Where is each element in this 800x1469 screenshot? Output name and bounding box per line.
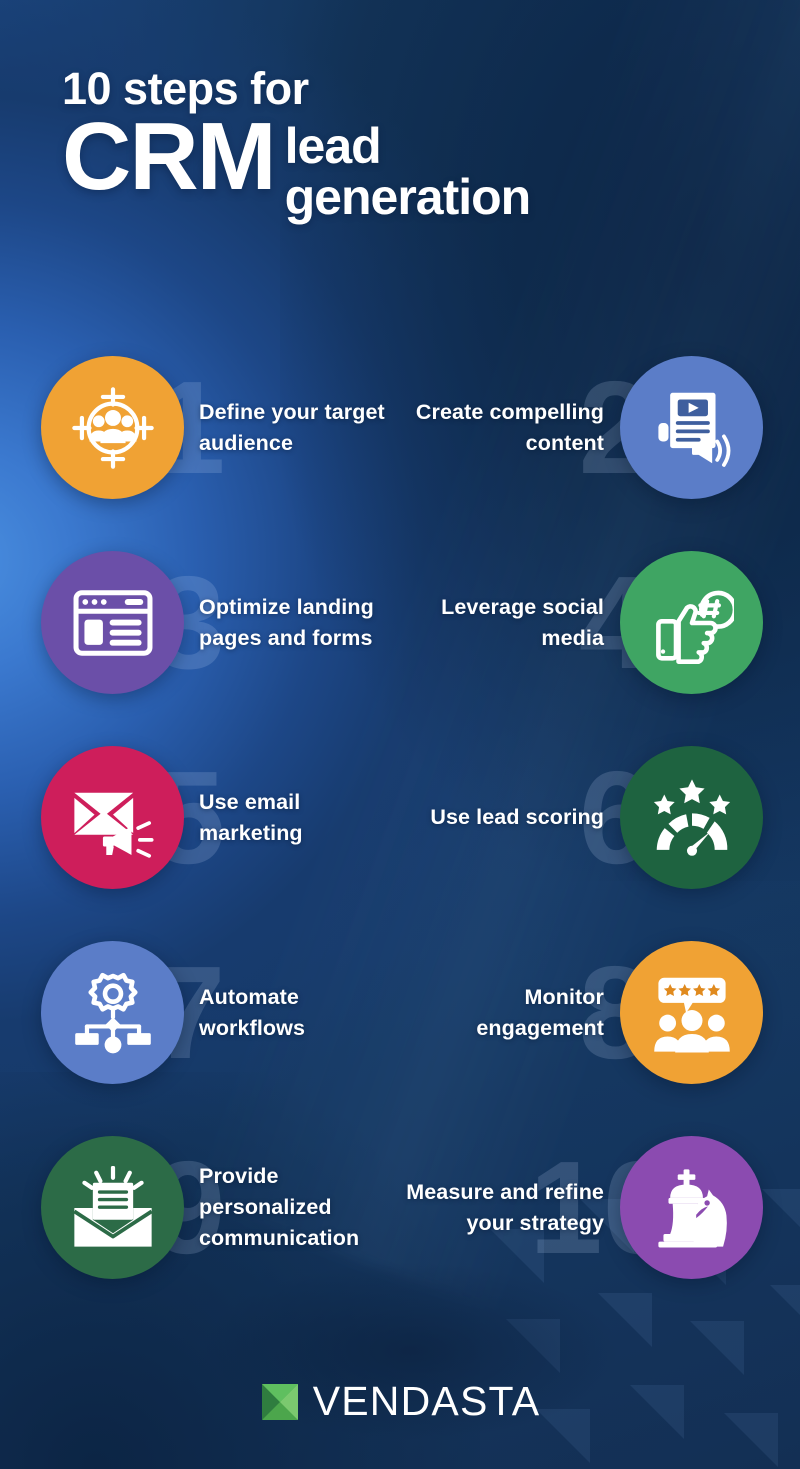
gauge-stars-icon <box>650 776 734 860</box>
step-icon-bubble-8[interactable] <box>620 941 763 1084</box>
step-icon-bubble-6[interactable] <box>620 746 763 889</box>
title-line-2: CRM lead generation <box>62 113 738 223</box>
step-icon-bubble-5[interactable] <box>41 746 184 889</box>
content-document-icon <box>650 386 734 470</box>
gear-workflow-icon <box>71 971 155 1055</box>
step-label-6: Use lead scoring <box>430 802 604 833</box>
landing-page-icon <box>71 581 155 665</box>
steps-row: Define your target audience1Create compe… <box>0 330 800 525</box>
title-subwords: lead generation <box>285 113 531 223</box>
title-acronym: CRM <box>62 113 275 201</box>
vendasta-logo-icon <box>260 1382 300 1422</box>
steps-row: Provide personalized communication9Measu… <box>0 1110 800 1305</box>
step-label-9: Provide personalized communication <box>199 1161 400 1253</box>
step-item-10[interactable]: Measure and refine your strategy 10 <box>400 1110 800 1305</box>
thumbs-up-hashtag-icon <box>650 581 734 665</box>
chess-strategy-icon <box>650 1166 734 1250</box>
step-icon-bubble-9[interactable] <box>41 1136 184 1279</box>
steps-row: Optimize landing pages and forms3Leverag… <box>0 525 800 720</box>
email-megaphone-icon <box>71 776 155 860</box>
title-word-lead: lead <box>285 121 531 172</box>
step-icon-bubble-10[interactable] <box>620 1136 763 1279</box>
step-icon-bubble-1[interactable] <box>41 356 184 499</box>
steps-row: Use email marketing5Use lead scoring 6 <box>0 720 800 915</box>
step-item-2[interactable]: Create compelling content 2 <box>400 330 800 525</box>
step-item-8[interactable]: Monitor engagement 8 <box>400 915 800 1110</box>
steps-list: Define your target audience1Create compe… <box>0 330 800 1305</box>
open-envelope-icon <box>71 1166 155 1250</box>
step-item-1[interactable]: Define your target audience1 <box>0 330 400 525</box>
step-icon-bubble-3[interactable] <box>41 551 184 694</box>
step-item-9[interactable]: Provide personalized communication9 <box>0 1110 400 1305</box>
step-label-5: Use email marketing <box>199 787 400 848</box>
step-label-2: Create compelling content <box>404 397 604 458</box>
title-word-generation: generation <box>285 172 531 223</box>
step-label-10: Measure and refine your strategy <box>404 1177 604 1238</box>
brand-name: VENDASTA <box>313 1378 541 1425</box>
people-review-icon <box>650 971 734 1055</box>
step-item-6[interactable]: Use lead scoring 6 <box>400 720 800 915</box>
step-icon-bubble-4[interactable] <box>620 551 763 694</box>
steps-row: Automate workflows7Monitor engagement 8 <box>0 915 800 1110</box>
step-label-7: Automate workflows <box>199 982 400 1043</box>
step-icon-bubble-2[interactable] <box>620 356 763 499</box>
step-label-1: Define your target audience <box>199 397 400 458</box>
step-item-4[interactable]: Leverage social media 4 <box>400 525 800 720</box>
step-item-7[interactable]: Automate workflows7 <box>0 915 400 1110</box>
step-label-8: Monitor engagement <box>404 982 604 1043</box>
page-title: 10 steps for CRM lead generation <box>0 66 800 223</box>
target-audience-icon <box>71 386 155 470</box>
footer-branding: VENDASTA <box>0 1378 800 1425</box>
step-icon-bubble-7[interactable] <box>41 941 184 1084</box>
step-item-3[interactable]: Optimize landing pages and forms3 <box>0 525 400 720</box>
step-label-3: Optimize landing pages and forms <box>199 592 400 653</box>
step-item-5[interactable]: Use email marketing5 <box>0 720 400 915</box>
step-label-4: Leverage social media <box>404 592 604 653</box>
